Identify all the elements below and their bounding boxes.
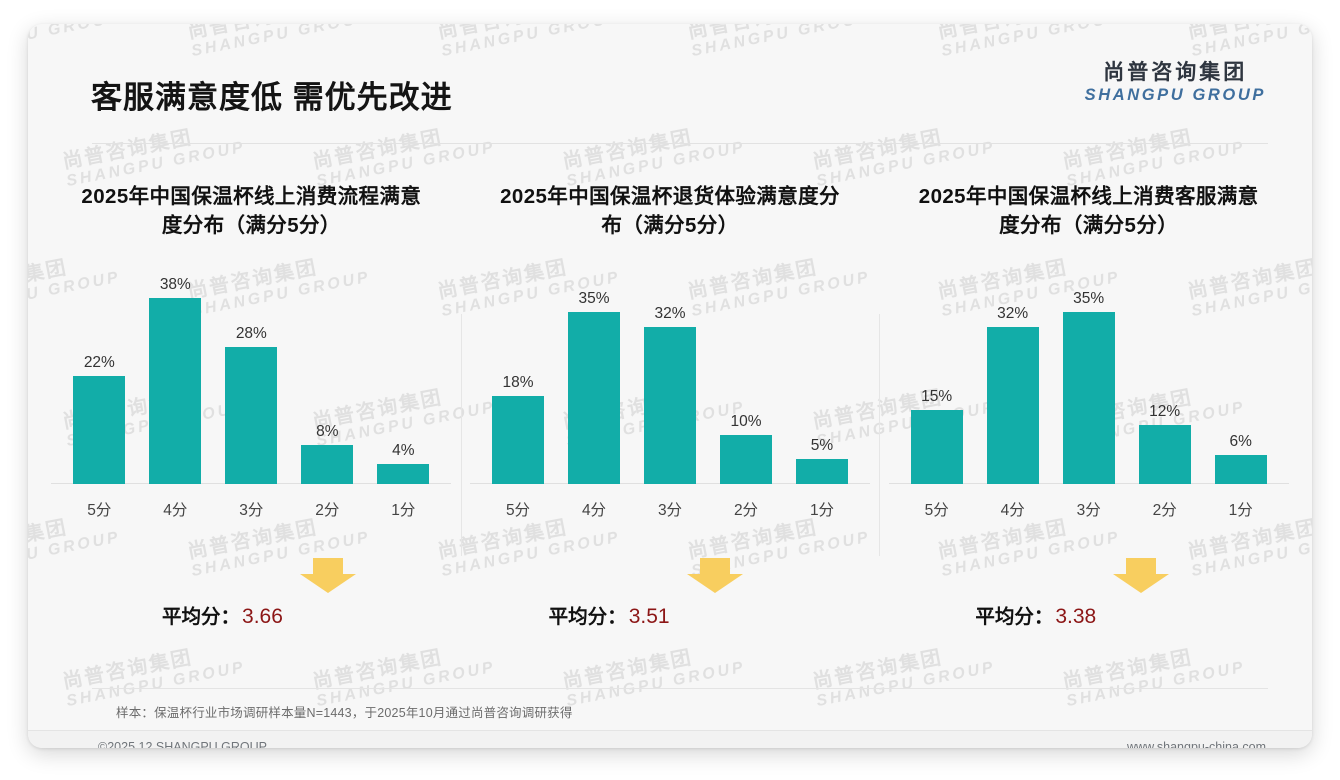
bar-column: 38% (141, 260, 209, 484)
chart-panel-2: 2025年中国保温杯退货体验满意度分布（满分5分） 18%35%32%10%5%… (461, 164, 880, 674)
bar-value-label: 32% (654, 306, 685, 322)
bar (301, 445, 353, 484)
category-label: 3分 (217, 498, 285, 520)
bar (73, 376, 125, 484)
bar (987, 327, 1039, 484)
bar-column: 32% (979, 260, 1047, 484)
bar-value-label: 32% (997, 306, 1028, 322)
bar-column: 35% (560, 260, 628, 484)
bar-column: 18% (484, 260, 552, 484)
category-label: 1分 (1207, 498, 1275, 520)
slide-header: 客服满意度低 需优先改进 尚普咨询集团 SHANGPU GROUP (28, 24, 1312, 120)
watermark-text: 尚普咨询集团SHANGPU GROUP (1311, 377, 1312, 451)
bar-column: 10% (712, 260, 780, 484)
footnote-divider (92, 688, 1268, 689)
bar (568, 312, 620, 484)
bar-column: 28% (217, 260, 285, 484)
header-divider (92, 143, 1268, 144)
bar-value-label: 6% (1229, 434, 1251, 450)
bar (644, 327, 696, 484)
average-score-block-3: 平均分：3.38 (887, 558, 1290, 648)
chart-title-2: 2025年中国保温杯退货体验满意度分布（满分5分） (493, 182, 847, 240)
copyright-text: ©2025.12 SHANGPU GROUP (98, 740, 267, 748)
bar-group: 18%35%32%10%5% (470, 260, 870, 484)
average-score-block-2: 平均分：3.51 (469, 558, 872, 648)
category-label: 5分 (903, 498, 971, 520)
bar-column: 5% (788, 260, 856, 484)
bar-value-label: 35% (578, 291, 609, 307)
category-label: 2分 (1131, 498, 1199, 520)
average-label: 平均分： (162, 606, 240, 628)
bar-value-label: 22% (84, 355, 115, 371)
bar-group: 22%38%28%8%4% (51, 260, 451, 484)
bar (225, 347, 277, 484)
footnote-text: 样本：保温杯行业市场调研样本量N=1443，于2025年10月通过尚普咨询调研获… (116, 702, 573, 721)
bar (1215, 455, 1267, 484)
bar-column: 6% (1207, 260, 1275, 484)
bar-value-label: 15% (921, 389, 952, 405)
bar-column: 8% (293, 260, 361, 484)
arrow-shaft (1126, 558, 1156, 575)
chart-panel-3: 2025年中国保温杯线上消费客服满意度分布（满分5分） 15%32%35%12%… (879, 164, 1298, 674)
arrow-shaft (700, 558, 730, 575)
website-url[interactable]: www.shangpu-china.com (1127, 740, 1266, 748)
bar-value-label: 35% (1073, 291, 1104, 307)
category-label: 5分 (65, 498, 133, 520)
down-arrow-icon (687, 558, 743, 592)
bar-group: 15%32%35%12%6% (889, 260, 1289, 484)
bar (911, 410, 963, 484)
arrow-shaft (313, 558, 343, 575)
bar (149, 298, 201, 484)
bar (796, 459, 848, 484)
bar (492, 396, 544, 484)
bar-column: 35% (1055, 260, 1123, 484)
page-title: 客服满意度低 需优先改进 (91, 72, 453, 117)
chart-title-3: 2025年中国保温杯线上消费客服满意度分布（满分5分） (912, 182, 1266, 240)
average-label: 平均分： (549, 606, 627, 628)
bar-column: 22% (65, 260, 133, 484)
chart-panel-1: 2025年中国保温杯线上消费流程满意度分布（满分5分） 22%38%28%8%4… (42, 164, 461, 674)
bar-value-label: 18% (502, 375, 533, 391)
bar-value-label: 38% (160, 277, 191, 293)
category-label: 3分 (1055, 498, 1123, 520)
bar-value-label: 12% (1149, 404, 1180, 420)
category-label: 3分 (636, 498, 704, 520)
bar (1063, 312, 1115, 484)
average-score-2: 平均分：3.51 (549, 600, 670, 629)
logo-english-text: SHANGPU GROUP (1085, 85, 1266, 106)
average-value: 3.38 (1055, 605, 1096, 628)
down-arrow-icon (1113, 558, 1169, 592)
category-label: 1分 (369, 498, 437, 520)
category-label: 5分 (484, 498, 552, 520)
charts-container: 2025年中国保温杯线上消费流程满意度分布（满分5分） 22%38%28%8%4… (42, 164, 1298, 674)
slide-card: 尚普咨询集团SHANGPU GROUP尚普咨询集团SHANGPU GROUP尚普… (28, 24, 1312, 748)
chart-title-1: 2025年中国保温杯线上消费流程满意度分布（满分5分） (74, 182, 428, 240)
category-axis-labels: 5分4分3分2分1分 (51, 498, 451, 520)
bar-value-label: 28% (236, 326, 267, 342)
category-axis-labels: 5分4分3分2分1分 (470, 498, 870, 520)
average-score-block-1: 平均分：3.66 (50, 558, 453, 648)
company-logo: 尚普咨询集团 SHANGPU GROUP (1085, 60, 1266, 106)
bar-value-label: 4% (392, 443, 414, 459)
arrow-head (300, 574, 356, 593)
bar (720, 435, 772, 484)
arrow-head (687, 574, 743, 593)
watermark-text: 尚普咨询集团SHANGPU GROUP (1311, 117, 1312, 191)
average-value: 3.66 (242, 605, 283, 628)
category-label: 4分 (979, 498, 1047, 520)
average-score-3: 平均分：3.38 (975, 600, 1096, 629)
bar-column: 32% (636, 260, 704, 484)
bar-column: 15% (903, 260, 971, 484)
category-label: 2分 (712, 498, 780, 520)
bar-value-label: 8% (316, 424, 338, 440)
average-score-1: 平均分：3.66 (162, 600, 283, 629)
category-label: 2分 (293, 498, 361, 520)
category-axis-labels: 5分4分3分2分1分 (889, 498, 1289, 520)
arrow-head (1113, 574, 1169, 593)
category-label: 1分 (788, 498, 856, 520)
logo-chinese-text: 尚普咨询集团 (1085, 60, 1266, 85)
bar-chart-1: 22%38%28%8%4% 5分4分3分2分1分 (51, 260, 451, 508)
average-label: 平均分： (975, 606, 1053, 628)
down-arrow-icon (300, 558, 356, 592)
average-value: 3.51 (629, 605, 670, 628)
bar-chart-3: 15%32%35%12%6% 5分4分3分2分1分 (889, 260, 1289, 508)
bar-value-label: 5% (811, 438, 833, 454)
bar (1139, 425, 1191, 484)
category-label: 4分 (560, 498, 628, 520)
bar-column: 12% (1131, 260, 1199, 484)
bar-value-label: 10% (730, 414, 761, 430)
bar-chart-2: 18%35%32%10%5% 5分4分3分2分1分 (470, 260, 870, 508)
category-label: 4分 (141, 498, 209, 520)
bar-column: 4% (369, 260, 437, 484)
bar (377, 464, 429, 484)
watermark-text: 尚普咨询集团SHANGPU GROUP (1311, 637, 1312, 711)
